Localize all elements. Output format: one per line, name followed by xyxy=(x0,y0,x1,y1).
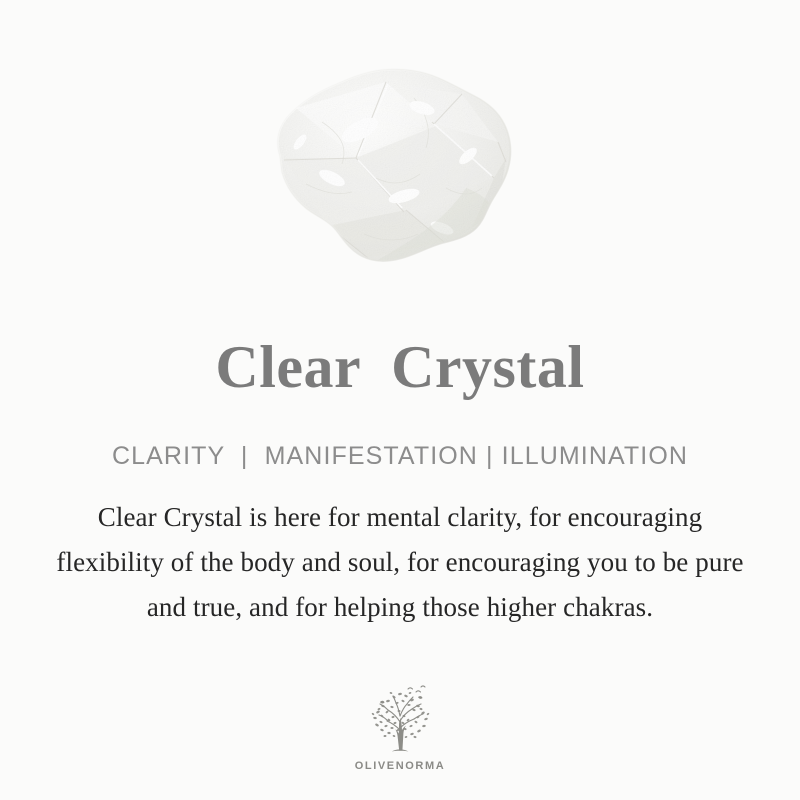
crystal-image xyxy=(236,38,536,286)
brand-logo: OLIVENORMA xyxy=(0,684,800,772)
raw-clear-quartz-crystal-icon xyxy=(236,38,536,286)
product-keywords: CLARITY | MANIFESTATION | ILLUMINATION xyxy=(0,440,800,472)
brand-name: OLIVENORMA xyxy=(355,760,446,772)
product-title: Clear Crystal xyxy=(0,332,800,402)
product-image-area xyxy=(0,0,800,310)
product-info-card: Clear Crystal CLARITY | MANIFESTATION | … xyxy=(0,0,800,800)
product-description: Clear Crystal is here for mental clarity… xyxy=(52,495,748,630)
olive-tree-logo-icon xyxy=(358,684,442,758)
